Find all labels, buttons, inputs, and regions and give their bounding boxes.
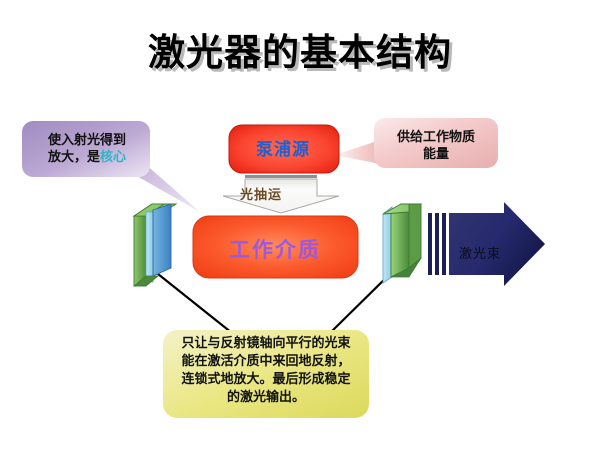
laser-beam-arrow: [428, 202, 545, 286]
callout-left[interactable]: [22, 121, 200, 212]
diagram-art-layer: [0, 0, 600, 450]
callout-right[interactable]: [335, 118, 498, 168]
optical-pumping-arrow: [223, 175, 339, 213]
slide-canvas: 激光器的基本结构: [0, 0, 600, 450]
callout-bottom[interactable]: [163, 330, 369, 418]
working-medium-box[interactable]: [193, 216, 358, 278]
right-mirror[interactable]: [383, 204, 421, 283]
pump-source-box[interactable]: [229, 125, 339, 173]
leader-line-left-mirror: [158, 274, 232, 333]
left-mirror[interactable]: [134, 204, 176, 286]
